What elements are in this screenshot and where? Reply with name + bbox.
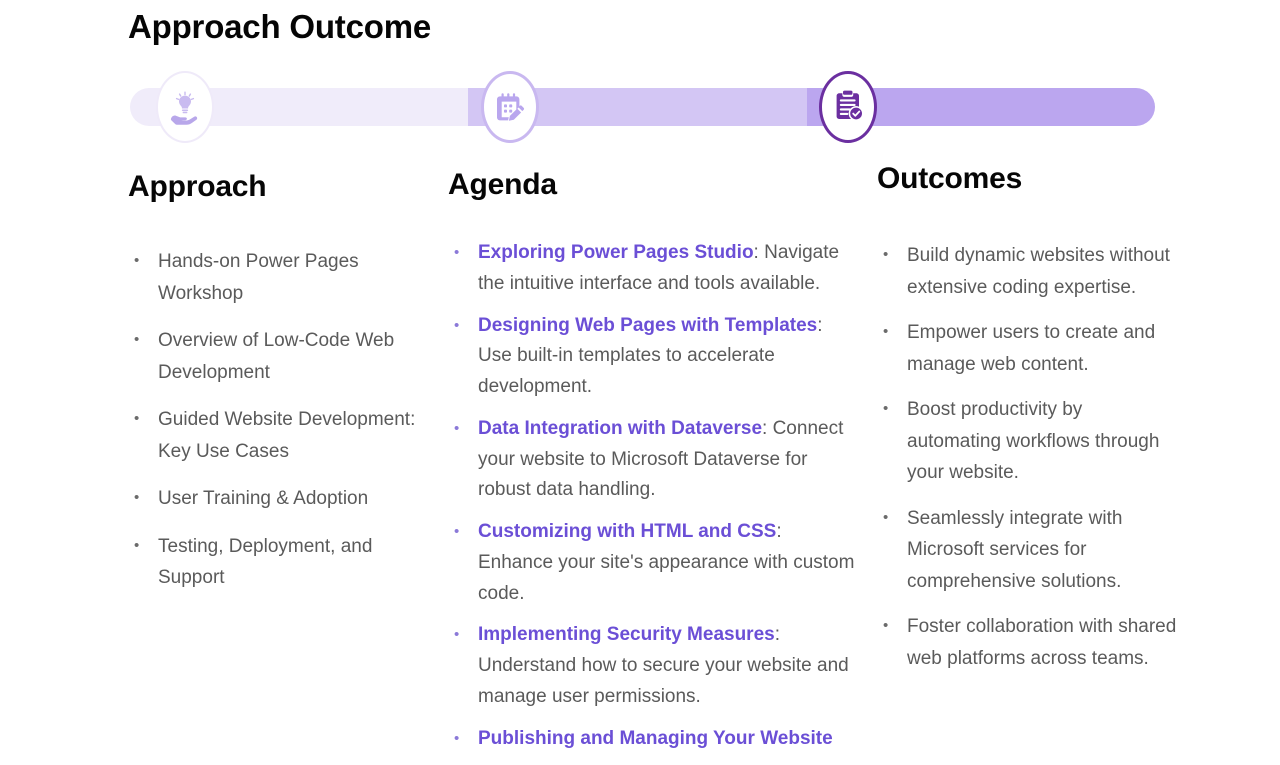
column-heading-approach: Approach [128,170,428,204]
agenda-item-lead: Data Integration with Dataverse [478,418,762,439]
progress-node-2[interactable] [481,71,539,143]
list-item: Data Integration with Dataverse: Connect… [448,414,858,506]
list-item: Customizing with HTML and CSS: Enhance y… [448,517,858,609]
column-approach: Approach Hands-on Power Pages Workshop O… [128,170,428,610]
agenda-item-lead: Implementing Security Measures [478,624,775,645]
list-item: Boost productivity by automating workflo… [877,394,1177,489]
approach-list: Hands-on Power Pages Workshop Overview o… [128,246,428,594]
list-item: Foster collaboration with shared web pla… [877,611,1177,674]
outcomes-list: Build dynamic websites without extensive… [877,240,1177,674]
progress-node-3[interactable] [819,71,877,143]
list-item: Testing, Deployment, and Support [128,531,428,594]
slide: Approach Outcome [0,0,1280,720]
agenda-item-lead: Publishing and Managing Your Website [478,728,833,749]
lightbulb-in-hand-icon [168,89,202,125]
column-agenda: Agenda Exploring Power Pages Studio: Nav… [448,168,858,765]
page-title: Approach Outcome [128,8,431,46]
list-item: User Training & Adoption [128,483,428,515]
progress-node-1[interactable] [156,71,214,143]
list-item: Guided Website Development: Key Use Case… [128,404,428,467]
calendar-edit-icon [494,90,526,124]
column-heading-outcomes: Outcomes [877,162,1177,196]
progress-bar [130,88,1155,126]
clipboard-check-icon [832,89,864,125]
agenda-item-lead: Designing Web Pages with Templates [478,315,817,336]
column-heading-agenda: Agenda [448,168,858,202]
list-item: Publishing and Managing Your Website [448,724,858,755]
agenda-item-lead: Exploring Power Pages Studio [478,242,754,263]
column-outcomes: Outcomes Build dynamic websites without … [877,162,1177,688]
list-item: Empower users to create and manage web c… [877,317,1177,380]
list-item: Hands-on Power Pages Workshop [128,246,428,309]
list-item: Designing Web Pages with Templates: Use … [448,311,858,403]
list-item: Seamlessly integrate with Microsoft serv… [877,503,1177,598]
list-item: Overview of Low-Code Web Development [128,325,428,388]
progress-track [130,88,1155,126]
agenda-item-lead: Customizing with HTML and CSS [478,521,776,542]
list-item: Exploring Power Pages Studio: Navigate t… [448,238,858,300]
list-item: Implementing Security Measures: Understa… [448,620,858,712]
agenda-list: Exploring Power Pages Studio: Navigate t… [448,238,858,754]
list-item: Build dynamic websites without extensive… [877,240,1177,303]
